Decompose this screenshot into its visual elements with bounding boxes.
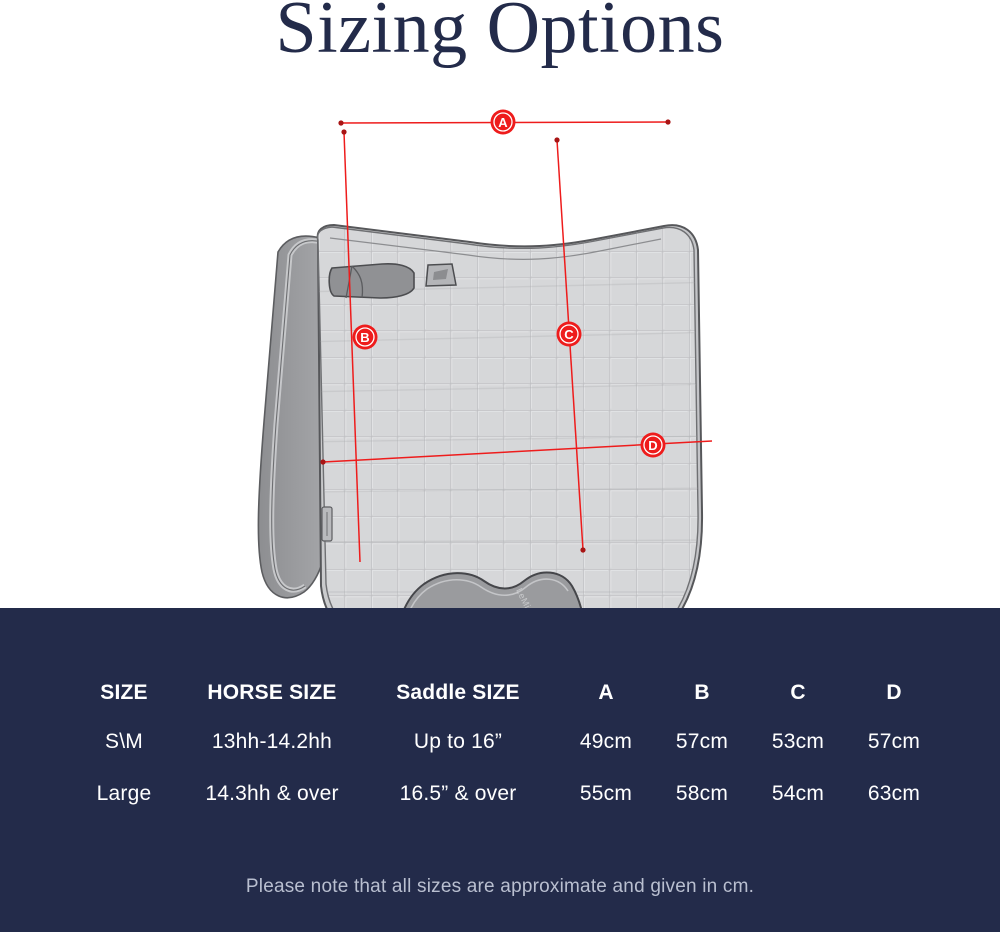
saddle-pad-diagram: LeMieux LeMieux (0, 92, 1000, 608)
table-row: S\M 13hh-14.2hh Up to 16” 49cm 57cm 53cm… (62, 716, 942, 768)
marker-badge-d: D (641, 433, 666, 458)
cell-saddle-size: 16.5” & over (358, 768, 558, 820)
column-header-b: B (654, 670, 750, 716)
marker-label-a: A (498, 115, 508, 130)
pad-logo-tab (426, 264, 456, 286)
column-header-c: C (750, 670, 846, 716)
cell-saddle-size: Up to 16” (358, 716, 558, 768)
sizing-options-page: Sizing Options (0, 0, 1000, 932)
title-banner: Sizing Options (0, 0, 1000, 92)
cell-c: 53cm (750, 716, 846, 768)
cell-a: 55cm (558, 768, 654, 820)
marker-label-b: B (360, 330, 369, 345)
sizing-footnote: Please note that all sizes are approxima… (0, 876, 1000, 898)
column-header-saddle-size: Saddle SIZE (358, 670, 558, 716)
cell-b: 58cm (654, 768, 750, 820)
column-header-size: SIZE (62, 670, 186, 716)
column-header-a: A (558, 670, 654, 716)
cell-size: Large (62, 768, 186, 820)
page-title: Sizing Options (0, 0, 1000, 74)
marker-badge-b: B (353, 325, 378, 350)
cell-d: 63cm (846, 768, 942, 820)
cell-horse-size: 13hh-14.2hh (186, 716, 358, 768)
marker-label-c: C (564, 327, 574, 342)
marker-badge-a: A (491, 110, 516, 135)
sizing-table: SIZE HORSE SIZE Saddle SIZE A B C D S\M … (62, 670, 942, 820)
cell-size: S\M (62, 716, 186, 768)
column-header-d: D (846, 670, 942, 716)
cell-c: 54cm (750, 768, 846, 820)
marker-label-d: D (648, 438, 657, 453)
sizing-table-panel: SIZE HORSE SIZE Saddle SIZE A B C D S\M … (0, 608, 1000, 932)
pad-billet-strap (329, 264, 414, 298)
sizing-table-body: S\M 13hh-14.2hh Up to 16” 49cm 57cm 53cm… (62, 716, 942, 820)
cell-d: 57cm (846, 716, 942, 768)
table-header-row: SIZE HORSE SIZE Saddle SIZE A B C D (62, 670, 942, 716)
pad-main-body: LeMieux LeMieux (300, 222, 720, 608)
sizing-table-head: SIZE HORSE SIZE Saddle SIZE A B C D (62, 670, 942, 716)
saddle-pad-illustration: LeMieux LeMieux (0, 92, 1000, 608)
cell-horse-size: 14.3hh & over (186, 768, 358, 820)
pad-side-label (322, 507, 332, 541)
cell-a: 49cm (558, 716, 654, 768)
column-header-horse-size: HORSE SIZE (186, 670, 358, 716)
marker-badge-c: C (557, 322, 582, 347)
cell-b: 57cm (654, 716, 750, 768)
table-row: Large 14.3hh & over 16.5” & over 55cm 58… (62, 768, 942, 820)
